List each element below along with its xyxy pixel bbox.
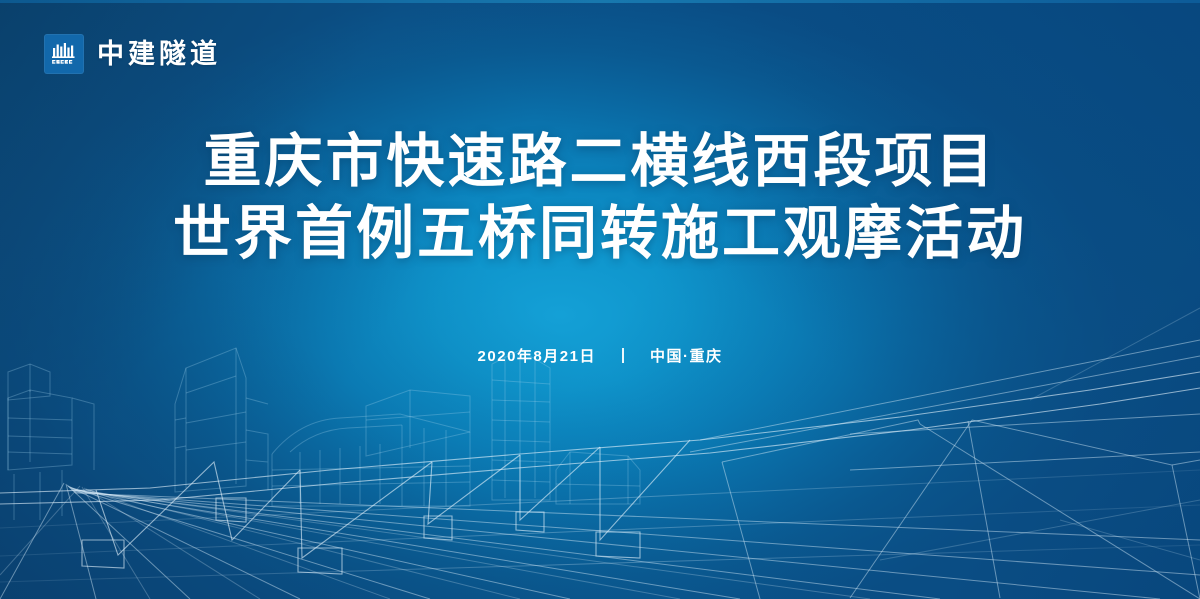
background-artwork xyxy=(0,0,1200,599)
event-meta: 2020年8月21日 中国·重庆 xyxy=(0,345,1200,366)
brand-name: 中建隧道 xyxy=(97,41,221,68)
page-title-line-2: 世界首例五桥同转施工观摩活动 xyxy=(0,198,1200,270)
event-location: 中国·重庆 xyxy=(650,345,723,366)
page-title: 重庆市快速路二横线西段项目 世界首例五桥同转施工观摩活动 xyxy=(0,126,1200,270)
cscec-logo-icon xyxy=(44,34,84,74)
page-title-line-1: 重庆市快速路二横线西段项目 xyxy=(0,126,1200,198)
meta-separator xyxy=(622,348,624,363)
brand-lockup: 中建隧道 xyxy=(44,34,221,74)
event-date: 2020年8月21日 xyxy=(478,345,596,366)
event-banner: 中建隧道 重庆市快速路二横线西段项目 世界首例五桥同转施工观摩活动 2020年8… xyxy=(0,0,1200,599)
